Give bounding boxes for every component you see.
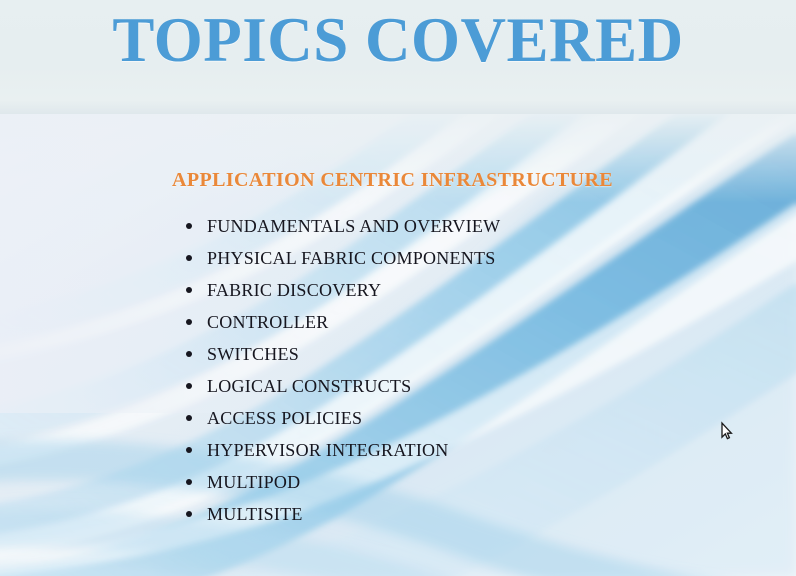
list-item: LOGICAL CONSTRUCTS (186, 370, 500, 402)
slide-content: APPLICATION CENTRIC INFRASTRUCTURE FUNDA… (0, 113, 796, 576)
list-item-label: FABRIC DISCOVERY (207, 280, 381, 300)
list-item: ACCESS POLICIES (186, 402, 500, 434)
list-item-label: LOGICAL CONSTRUCTS (207, 376, 411, 396)
list-item-label: MULTIPOD (207, 472, 300, 492)
list-item-label: HYPERVISOR INTEGRATION (207, 440, 449, 460)
topics-list: FUNDAMENTALS AND OVERVIEW PHYSICAL FABRI… (186, 210, 500, 530)
list-item-label: ACCESS POLICIES (207, 408, 362, 428)
slide-header-band: TOPICS COVERED (0, 0, 796, 114)
list-item-label: FUNDAMENTALS AND OVERVIEW (207, 216, 500, 236)
list-item: MULTIPOD (186, 466, 500, 498)
list-item: PHYSICAL FABRIC COMPONENTS (186, 242, 500, 274)
list-item-label: PHYSICAL FABRIC COMPONENTS (207, 248, 496, 268)
list-item-label: CONTROLLER (207, 312, 329, 332)
list-item: FABRIC DISCOVERY (186, 274, 500, 306)
list-item: CONTROLLER (186, 306, 500, 338)
list-item: FUNDAMENTALS AND OVERVIEW (186, 210, 500, 242)
page-title: TOPICS COVERED (0, 9, 796, 72)
list-item: SWITCHES (186, 338, 500, 370)
list-item: HYPERVISOR INTEGRATION (186, 434, 500, 466)
list-item: MULTISITE (186, 498, 500, 530)
list-item-label: MULTISITE (207, 504, 303, 524)
list-item-label: SWITCHES (207, 344, 299, 364)
section-heading: APPLICATION CENTRIC INFRASTRUCTURE (172, 169, 613, 192)
presentation-slide: TOPICS COVERED APPLICATION CENTRIC INFRA… (0, 0, 796, 576)
